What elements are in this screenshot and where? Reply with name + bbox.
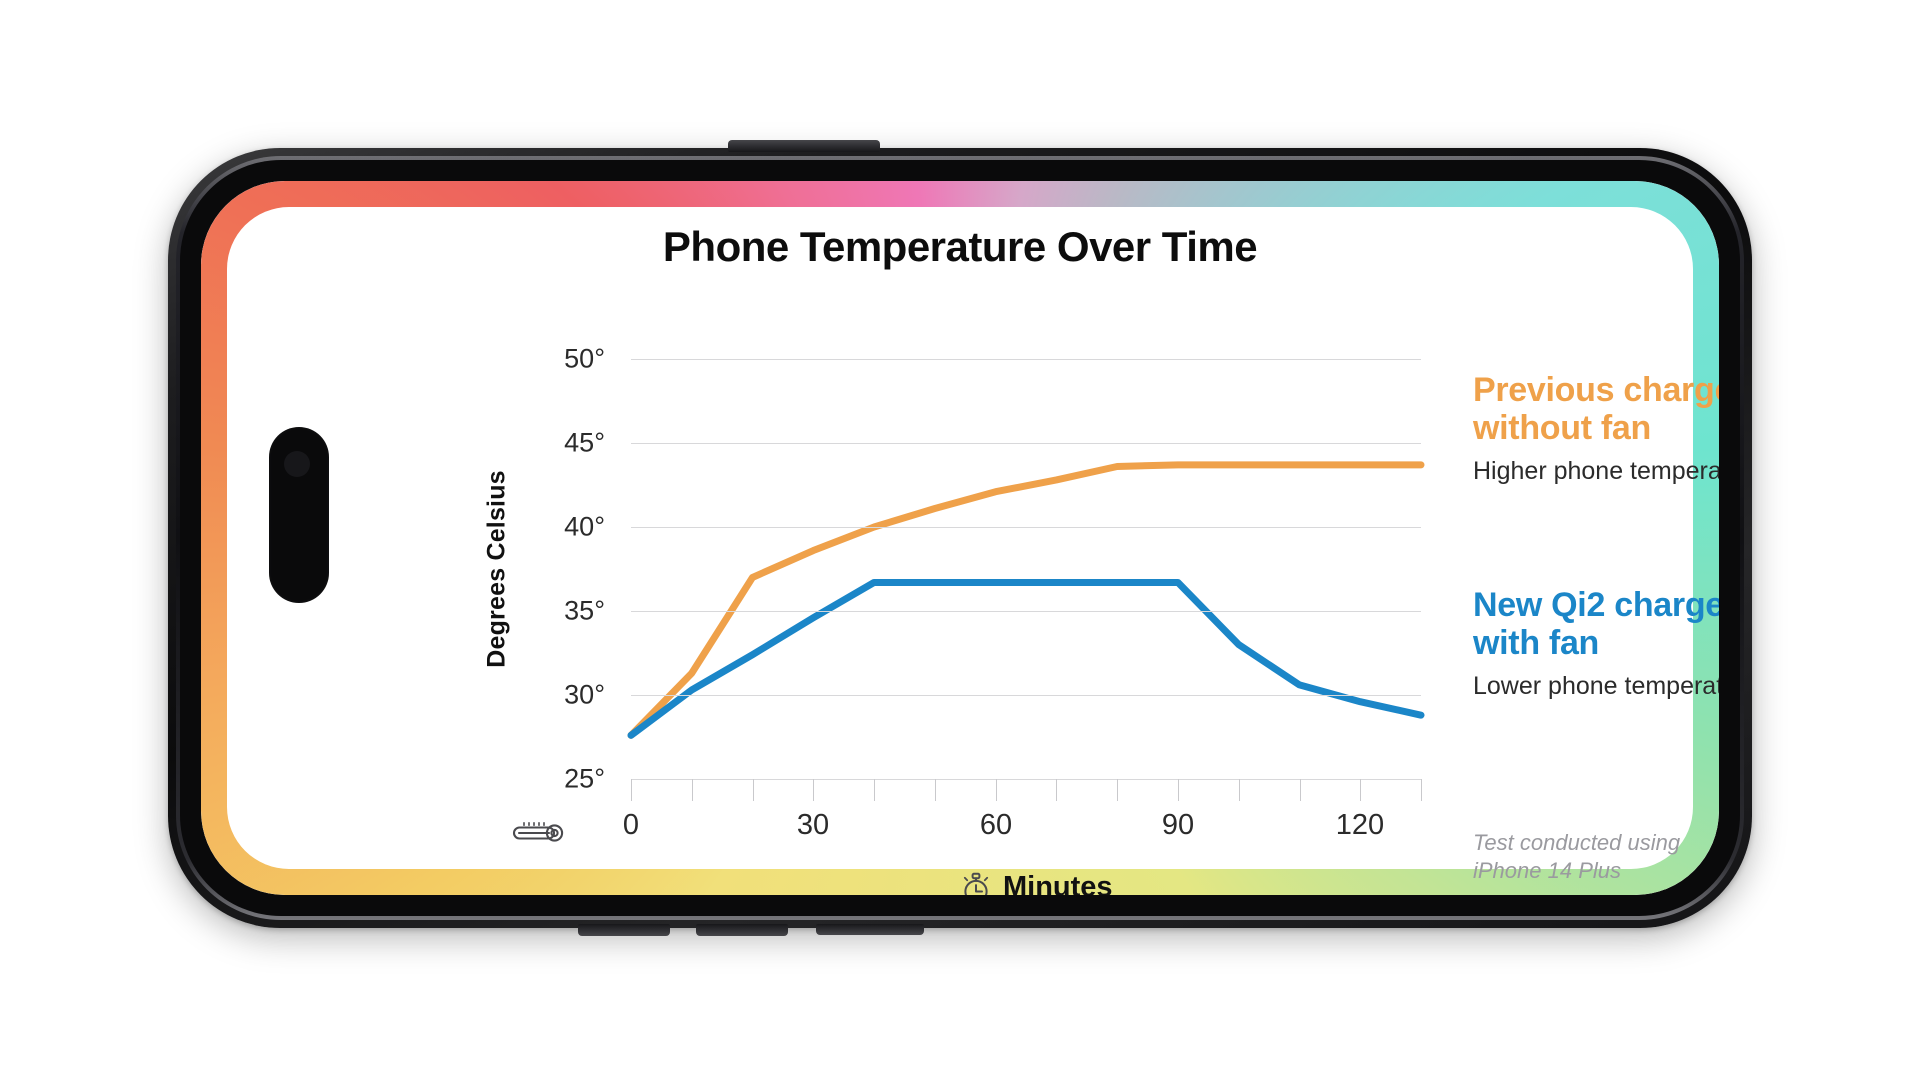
x-axis-ticks [631, 779, 1421, 805]
x-minor-tick [996, 779, 997, 801]
x-axis-title-group: Minutes [961, 871, 1113, 895]
chart-footnote: Test conducted using iPhone 14 Plus [1473, 829, 1719, 884]
chart-content: Phone Temperature Over Time Degrees Cels… [201, 181, 1719, 895]
gridline-40 [631, 527, 1421, 528]
y-tick-30: 30° [564, 680, 605, 711]
chart-title: Phone Temperature Over Time [201, 223, 1719, 271]
phone-device-frame: Phone Temperature Over Time Degrees Cels… [168, 148, 1752, 928]
x-minor-tick [1239, 779, 1240, 801]
x-minor-tick [631, 779, 632, 801]
x-tick-30: 30 [797, 809, 829, 842]
stopwatch-icon [961, 872, 991, 896]
x-axis-title: Minutes [1003, 871, 1113, 895]
action-mute-button[interactable] [816, 924, 924, 935]
x-minor-tick [692, 779, 693, 801]
x-tick-60: 60 [980, 809, 1012, 842]
x-minor-tick [935, 779, 936, 801]
legend-previous-subtitle: Higher phone temperature [1473, 457, 1719, 486]
x-minor-tick [1300, 779, 1301, 801]
x-tick-0: 0 [623, 809, 639, 842]
phone-metal-rim: Phone Temperature Over Time Degrees Cels… [176, 156, 1744, 920]
gridline-35 [631, 611, 1421, 612]
volume-up-button[interactable] [578, 924, 670, 936]
y-tick-35: 35° [564, 596, 605, 627]
x-minor-tick [874, 779, 875, 801]
line-new-qi2-charger [631, 582, 1421, 735]
legend-item-new-charger: New Qi2 charger with fan Lower phone tem… [1473, 586, 1719, 701]
y-axis-tick-labels: 50° 45° 40° 35° 30° 25° [531, 359, 623, 779]
y-tick-50: 50° [564, 344, 605, 375]
legend-spacer [1473, 486, 1719, 586]
x-tick-90: 90 [1162, 809, 1194, 842]
gridline-30 [631, 695, 1421, 696]
x-minor-tick [1056, 779, 1057, 801]
y-tick-45: 45° [564, 428, 605, 459]
x-axis-tick-labels: 0 30 60 90 120 [631, 809, 1421, 853]
legend-new-title-line2: with fan [1473, 624, 1719, 662]
series-lines [631, 359, 1421, 779]
gridline-45 [631, 443, 1421, 444]
plot-area [631, 359, 1421, 779]
footnote-line2: iPhone 14 Plus [1473, 857, 1719, 885]
legend-previous-title-line1: Previous charger [1473, 371, 1719, 409]
screenshot-root: Phone Temperature Over Time Degrees Cels… [0, 0, 1920, 1080]
y-axis-title: Degrees Celsius [483, 470, 512, 668]
x-minor-tick [813, 779, 814, 801]
x-minor-tick [753, 779, 754, 801]
gridline-50 [631, 359, 1421, 360]
x-minor-tick [1117, 779, 1118, 801]
legend-previous-title-line2: without fan [1473, 409, 1719, 447]
phone-screen: Phone Temperature Over Time Degrees Cels… [201, 181, 1719, 895]
thermometer-icon [511, 819, 567, 847]
y-tick-25: 25° [564, 764, 605, 795]
phone-bezel: Phone Temperature Over Time Degrees Cels… [180, 160, 1740, 916]
x-tick-120: 120 [1336, 809, 1384, 842]
power-button[interactable] [728, 140, 880, 152]
chart-legend: Previous charger without fan Higher phon… [1473, 371, 1719, 701]
x-minor-tick [1178, 779, 1179, 801]
legend-new-title-line1: New Qi2 charger [1473, 586, 1719, 624]
y-tick-40: 40° [564, 512, 605, 543]
footnote-line1: Test conducted using [1473, 829, 1719, 857]
volume-down-button[interactable] [696, 924, 788, 936]
x-minor-tick [1421, 779, 1422, 801]
legend-item-previous-charger: Previous charger without fan Higher phon… [1473, 371, 1719, 486]
legend-new-subtitle: Lower phone temperature [1473, 672, 1719, 701]
x-minor-tick [1360, 779, 1361, 801]
